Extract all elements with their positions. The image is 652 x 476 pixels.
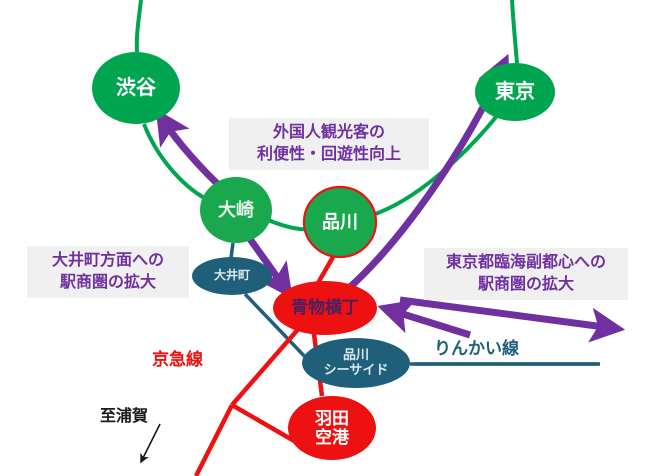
arrow-rinkai-to-aomono bbox=[390, 310, 470, 335]
callout-rinkai-subcenter-expansion: 東京都臨海副都心への 駅商圏の拡大 bbox=[424, 248, 628, 300]
station-node-shinagawa-seaside[interactable] bbox=[302, 338, 410, 388]
callout-oimachi-area-expansion: 大井町方面への 駅商圏の拡大 bbox=[27, 246, 189, 298]
line-label-keikyu: 京急線 bbox=[152, 345, 203, 370]
uraga-direction-arrow-group bbox=[141, 424, 160, 462]
callout-foreign-tourist: 外国人観光客の 利便性・回遊性向上 bbox=[229, 118, 429, 170]
jr-line-shibuya-north bbox=[137, 0, 141, 52]
station-node-haneda[interactable] bbox=[288, 396, 376, 460]
station-node-aomonoyokocho[interactable] bbox=[273, 281, 377, 335]
keikyu-line-shinagawa-aomono bbox=[318, 257, 333, 283]
station-node-tokyo[interactable] bbox=[475, 63, 555, 121]
station-node-shinagawa[interactable] bbox=[304, 187, 376, 257]
keikyu-line-junction-uraga bbox=[196, 405, 232, 476]
station-node-shibuya[interactable] bbox=[92, 52, 180, 124]
rinkai-line-osaki-oimachi bbox=[231, 243, 233, 258]
arrow-down-left-icon bbox=[141, 424, 160, 462]
arrow-osaki-to-shibuya bbox=[163, 120, 224, 190]
line-label-rinkai: りんかい線 bbox=[434, 334, 519, 359]
station-node-osaki[interactable] bbox=[200, 177, 272, 243]
keikyu-line-junction-haneda bbox=[232, 405, 296, 442]
jr-line-osaki-shinagawa bbox=[268, 220, 308, 229]
keikyu-line-aomono-junction bbox=[232, 327, 300, 405]
direction-label-to-uraga: 至浦賀 bbox=[100, 402, 148, 426]
station-node-oimachi[interactable] bbox=[192, 257, 272, 295]
railway-diagram-canvas: 渋谷 東京 大崎 品川 大井町 青物横丁 品川 シーサイド 羽田 空港 外国人観… bbox=[0, 0, 652, 476]
diagram-svg bbox=[0, 0, 652, 476]
jr-line-tokyo-north bbox=[512, 0, 517, 63]
